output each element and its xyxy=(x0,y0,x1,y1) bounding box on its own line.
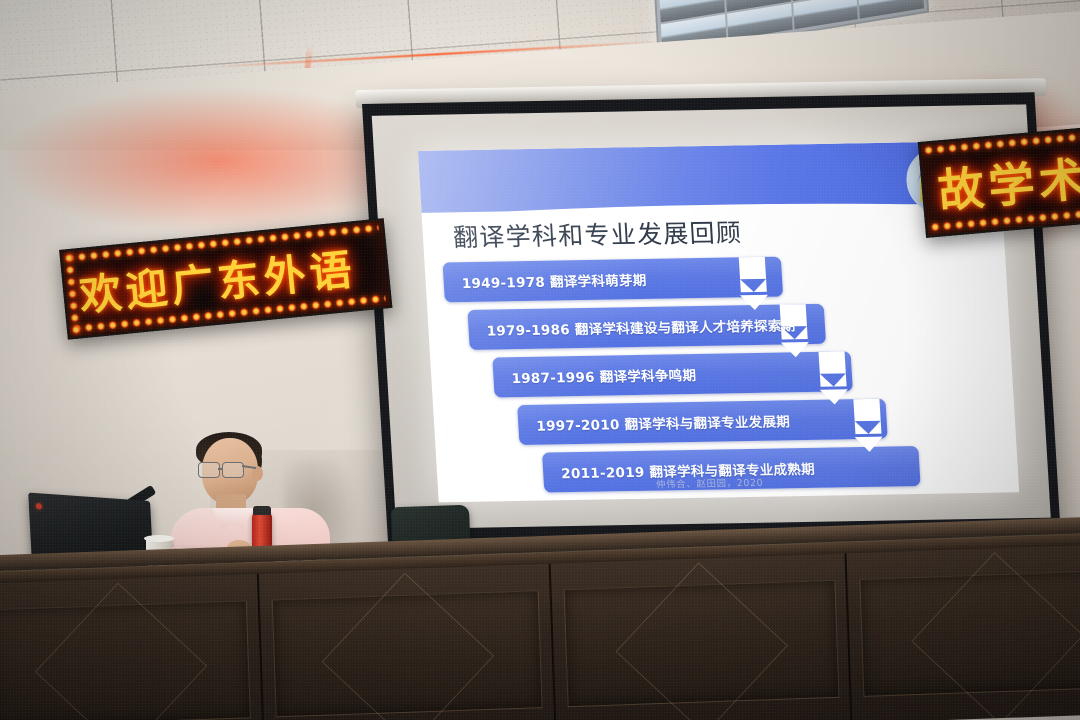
timeline-step-label: 1997-2010 翻译学科与翻译专业发展期 xyxy=(518,410,791,435)
led-banner-right: 故学术 xyxy=(918,126,1080,237)
timeline-chain: 1949-1978 翻译学科萌芽期 1979-1986 翻译学科建设与翻译人才培… xyxy=(424,249,1019,503)
rostrum-panel xyxy=(272,590,543,717)
timeline-step-label: 1979-1986 翻译学科建设与翻译人才培养探索期 xyxy=(468,314,796,340)
flow-arrowhead-icon xyxy=(781,342,810,357)
rostrum-seam xyxy=(844,553,852,720)
rostrum-seam xyxy=(549,564,557,720)
timeline-step-label: 1987-1996 翻译学科争鸣期 xyxy=(493,364,697,388)
eyeglasses xyxy=(198,462,244,477)
timeline-step: 1949-1978 翻译学科萌芽期 xyxy=(443,257,784,303)
photo-scene: 翻译学科和专业发展回顾 1949-1978 翻译学科萌芽期 1979-1986 … xyxy=(0,0,1080,720)
timeline-step: 1987-1996 翻译学科争鸣期 xyxy=(492,351,853,397)
timeline-step: 1997-2010 翻译学科与翻译专业发展期 xyxy=(517,399,888,445)
flow-arrowhead-icon xyxy=(740,295,769,310)
rostrum-seam xyxy=(257,574,265,720)
flow-connector-notch xyxy=(739,257,766,279)
slide-title: 翻译学科和专业发展回顾 xyxy=(452,213,743,254)
timeline-step-label: 1949-1978 翻译学科萌芽期 xyxy=(443,269,647,293)
rostrum-panel xyxy=(859,569,1080,696)
rostrum-panel xyxy=(0,600,251,720)
timeline-step: 1979-1986 翻译学科建设与翻译人才培养探索期 xyxy=(467,304,826,350)
led-banner-right-text: 故学术 xyxy=(935,142,1080,221)
slide-citation: 仲伟合、赵田园，2020 xyxy=(656,475,764,491)
rostrum-panel xyxy=(564,580,840,707)
flow-arrowhead-icon xyxy=(855,437,884,452)
flow-arrowhead-icon xyxy=(820,389,849,404)
flow-connector-notch xyxy=(780,304,807,326)
flow-connector-notch xyxy=(853,399,880,421)
flow-connector-notch xyxy=(819,351,846,373)
